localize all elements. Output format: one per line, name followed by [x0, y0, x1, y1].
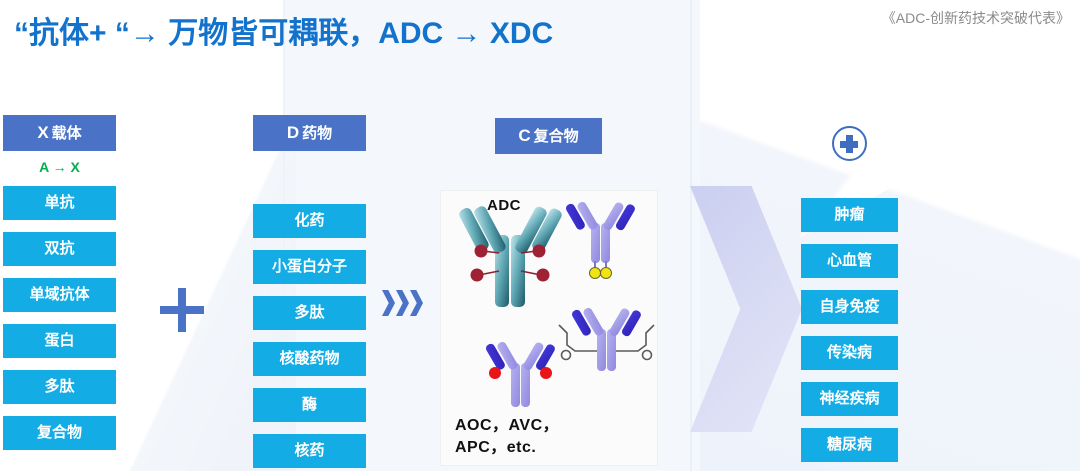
- column-carrier-header[interactable]: X载体: [3, 115, 116, 151]
- carrier-chip-list: 单抗 双抗 单域抗体 蛋白 多肽 复合物: [3, 186, 116, 450]
- chevron-right-icon: [410, 290, 423, 316]
- list-item[interactable]: 化药: [253, 204, 366, 238]
- page-title: “抗体+ “→ 万物皆可耦联，ADC → XDC: [14, 8, 553, 52]
- indication-chip-list: 肿瘤 心血管 自身免疫 传染病 神经疾病 糖尿病: [801, 198, 898, 462]
- column-conjugate-header[interactable]: C复合物: [495, 118, 602, 154]
- list-item[interactable]: 多肽: [3, 370, 116, 404]
- list-item[interactable]: 小蛋白分子: [253, 250, 366, 284]
- antibody-purple-linker: [559, 307, 654, 371]
- column-carrier-header-label: 载体: [52, 125, 82, 142]
- column-conjugate: C复合物: [495, 118, 602, 154]
- conjugate-types-caption: AOC，AVC， APC，etc.: [455, 415, 559, 459]
- column-conjugate-header-label: 复合物: [534, 128, 579, 145]
- list-item[interactable]: 核药: [253, 434, 366, 468]
- antibody-purple-yellow: [565, 201, 637, 279]
- adc-label: ADC: [487, 197, 521, 214]
- list-item[interactable]: 酶: [253, 388, 366, 422]
- column-drug-header[interactable]: D药物: [253, 115, 366, 151]
- medical-cross-icon: [832, 126, 867, 161]
- list-item[interactable]: 双抗: [3, 232, 116, 266]
- list-item[interactable]: 心血管: [801, 244, 898, 278]
- list-item[interactable]: 蛋白: [3, 324, 116, 358]
- column-drug-header-label: 药物: [302, 125, 332, 142]
- list-item[interactable]: 肿瘤: [801, 198, 898, 232]
- column-drug: D药物 化药 小蛋白分子 多肽 核酸药物 酶 核药: [253, 115, 366, 468]
- column-indication: 肿瘤 心血管 自身免疫 传染病 神经疾病 糖尿病: [801, 198, 898, 462]
- list-item[interactable]: 自身免疫: [801, 290, 898, 324]
- caption-line-1: AOC，AVC，: [455, 415, 559, 437]
- list-item[interactable]: 传染病: [801, 336, 898, 370]
- source-note: 《ADC-创新药技术突破代表》: [882, 8, 1070, 28]
- list-item[interactable]: 神经疾病: [801, 382, 898, 416]
- chevron-right-icon: [382, 290, 395, 316]
- slide-canvas: “抗体+ “→ 万物皆可耦联，ADC → XDC 《ADC-创新药技术突破代表》…: [0, 0, 1080, 471]
- antibody-adc-teal: [457, 205, 563, 307]
- vertical-divider-right: [690, 0, 692, 471]
- list-item[interactable]: 单抗: [3, 186, 116, 220]
- drug-chip-list: 化药 小蛋白分子 多肽 核酸药物 酶 核药: [253, 204, 366, 468]
- carrier-subnote: A → X: [3, 159, 116, 175]
- list-item[interactable]: 单域抗体: [3, 278, 116, 312]
- chevron-right-icon: [396, 290, 409, 316]
- list-item[interactable]: 糖尿病: [801, 428, 898, 462]
- list-item[interactable]: 多肽: [253, 296, 366, 330]
- caption-line-2: APC，etc.: [455, 437, 559, 459]
- list-item[interactable]: 核酸药物: [253, 342, 366, 376]
- antibody-purple-red: [485, 341, 557, 407]
- triple-chevron-right-icon: [382, 290, 423, 316]
- column-carrier-code: X: [37, 123, 48, 142]
- conjugate-illustration-panel: ADC: [440, 190, 658, 466]
- column-drug-code: D: [287, 123, 299, 142]
- column-carrier: X载体 A → X 单抗 双抗 单域抗体 蛋白 多肽 复合物: [3, 115, 116, 450]
- list-item[interactable]: 复合物: [3, 416, 116, 450]
- plus-icon: [160, 288, 204, 332]
- column-conjugate-code: C: [518, 126, 530, 145]
